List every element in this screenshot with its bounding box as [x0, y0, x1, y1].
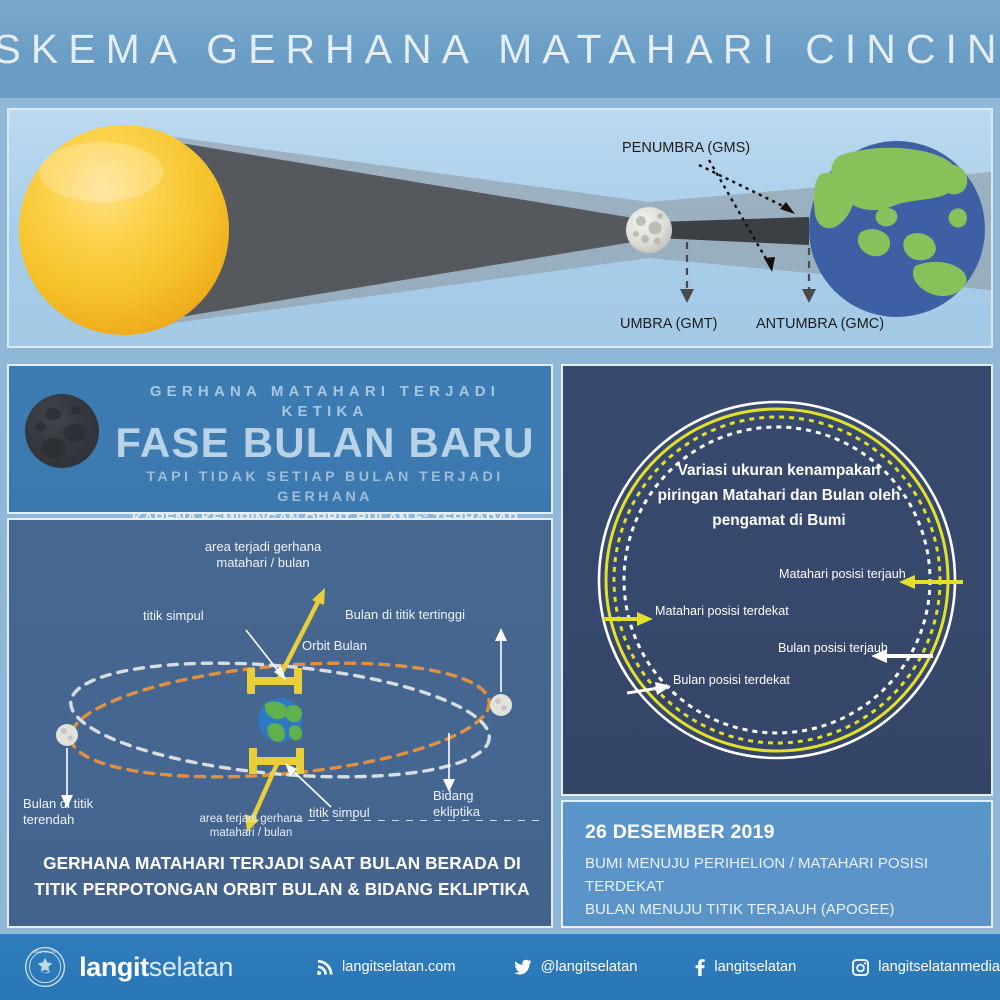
instagram-icon: [852, 959, 869, 976]
new-moon-phase-panel: GERHANA MATAHARI TERJADI KETIKA FASE BUL…: [7, 364, 553, 514]
new-moon-line-1: GERHANA MATAHARI TERJADI KETIKA: [105, 382, 545, 422]
arrow-moon-nearest-line: [627, 688, 659, 693]
footer-twitter-text: @langitselatan: [541, 959, 638, 975]
label-node-top: titik simpul: [143, 608, 204, 624]
langitselatan-logo-icon: LANGITSELATAN: [24, 943, 66, 991]
eclipse-scene-svg: [9, 110, 991, 346]
event-notes: BUMI MENUJU PERIHELION / MATAHARI POSISI…: [585, 852, 991, 921]
event-date-panel: 26 DESEMBER 2019 BUMI MENUJU PERIHELION …: [561, 800, 993, 928]
antumbra-arrow: [802, 289, 816, 303]
moon-highest-icon: [490, 694, 512, 716]
new-moon-line-3: TAPI TIDAK SETIAP BULAN TERJADI GERHANA: [105, 467, 545, 507]
arrow-sun-nearest-head: [637, 612, 653, 626]
footer-facebook-text: langitselatan: [714, 959, 796, 975]
label-sun-farthest: Matahari posisi terjauh: [779, 567, 906, 581]
umbra-arrow: [680, 289, 694, 303]
logo-seal-text: LANGITSELATAN: [32, 950, 58, 954]
label-eclipse-area-bottom: area terjadi gerhana matahari / bulan: [181, 812, 321, 840]
label-node-bottom: titik simpul: [309, 805, 370, 821]
infographic-page: SKEMA GERHANA MATAHARI CINCIN: [0, 0, 1000, 1000]
footer-twitter[interactable]: @langitselatan: [514, 959, 638, 975]
sun-highlight: [39, 142, 163, 202]
label-moon-lowest: Bulan di titik terendah: [23, 796, 133, 828]
event-date: 26 DESEMBER 2019: [585, 821, 991, 844]
apparent-size-svg: [563, 366, 991, 794]
page-title: SKEMA GERHANA MATAHARI CINCIN: [0, 26, 1000, 73]
orbit-nodes-panel: area terjadi gerhana matahari / bulan ti…: [7, 518, 553, 928]
new-moon-icon: [25, 394, 99, 468]
divider-dashed: [294, 820, 539, 821]
label-penumbra: PENUMBRA (GMS): [622, 140, 750, 156]
label-eclipse-area-top: area terjadi gerhana matahari / bulan: [183, 539, 343, 571]
footer-bar: LANGITSELATAN langitselatan langitselata…: [0, 934, 1000, 1000]
label-umbra: UMBRA (GMT): [620, 316, 717, 332]
twitter-icon: [514, 959, 532, 975]
eclipse-geometry-diagram: PENUMBRA (GMS) UMBRA (GMT) ANTUMBRA (GMC…: [7, 108, 993, 348]
earth-icon: [809, 141, 985, 317]
facebook-icon: [695, 959, 705, 976]
footer-website-text: langitselatan.com: [342, 959, 456, 975]
label-moon-highest: Bulan di titik tertinggi: [345, 607, 465, 623]
brand-light: selatan: [149, 952, 233, 982]
footer-instagram-text: langitselatanmedia: [878, 959, 1000, 975]
label-ecliptic-plane: Bidang ekliptika: [433, 788, 523, 820]
label-moon-nearest: Bulan posisi terdekat: [673, 673, 790, 687]
eclipse-area-arrowhead-top: [312, 588, 325, 605]
footer-instagram[interactable]: langitselatanmedia: [852, 959, 1000, 976]
moon-lowest-icon: [56, 724, 78, 746]
new-moon-headline: FASE BULAN BARU: [105, 421, 545, 465]
label-antumbra: ANTUMBRA (GMC): [756, 316, 884, 332]
label-sun-nearest: Matahari posisi terdekat: [655, 604, 789, 618]
apparent-size-title: Variasi ukuran kenampakan piringan Matah…: [623, 458, 935, 533]
brand-bold: langit: [79, 952, 149, 982]
apparent-size-panel: Variasi ukuran kenampakan piringan Matah…: [561, 364, 993, 796]
label-moon-farthest: Bulan posisi terjauh: [778, 641, 888, 655]
rss-icon: [317, 959, 333, 975]
earth-small-icon: [258, 698, 302, 742]
footer-facebook[interactable]: langitselatan: [695, 959, 796, 976]
orbit-caption: GERHANA MATAHARI TERJADI SAAT BULAN BERA…: [9, 850, 553, 902]
footer-website[interactable]: langitselatan.com: [317, 959, 456, 975]
moon-highest-arrowhead: [495, 628, 507, 641]
brand-wordmark: langitselatan: [79, 952, 233, 983]
label-moon-orbit: Orbit Bulan: [302, 638, 367, 654]
header-bar: SKEMA GERHANA MATAHARI CINCIN: [0, 0, 1000, 98]
